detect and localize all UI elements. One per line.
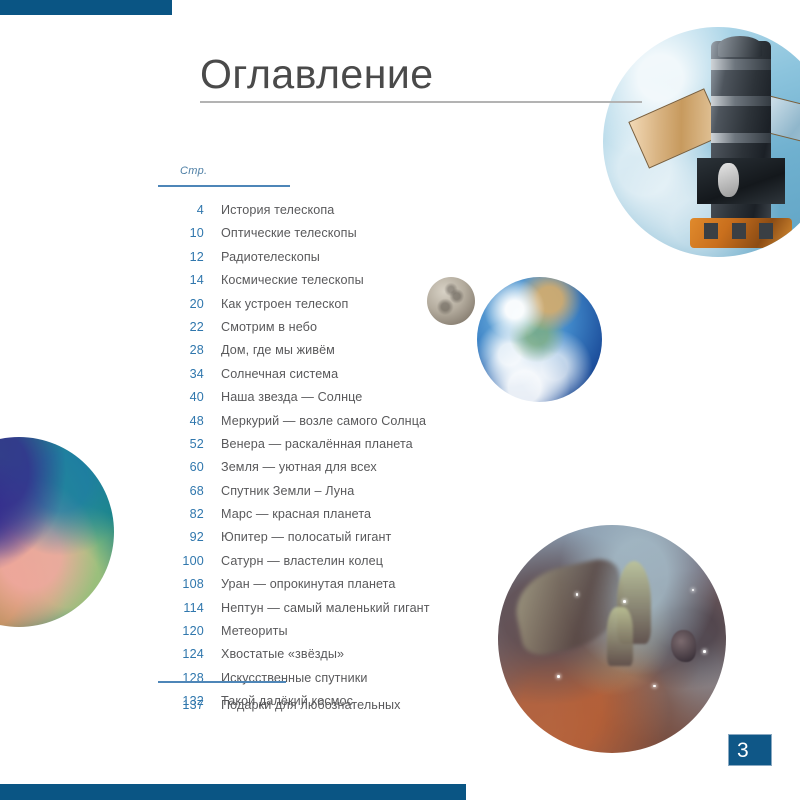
telescope-ring (711, 96, 771, 106)
toc-entry[interactable]: 14 Космические телескопы (158, 273, 488, 296)
title-underline-rule (200, 101, 642, 103)
book-contents-page: Оглавление Стр. 4 История телескопа 10 О… (0, 0, 800, 800)
toc-entry-page-number: 22 (158, 320, 204, 334)
toc-entry-page-number: 92 (158, 530, 204, 544)
star-point (557, 675, 560, 678)
toc-entry[interactable]: 82 Марс — красная планета (158, 507, 488, 530)
toc-entry-label: Метеориты (204, 624, 288, 638)
page-title: Оглавление (200, 52, 434, 97)
toc-entry-page-number: 14 (158, 273, 204, 287)
toc-entry-label: Космические телескопы (204, 273, 364, 287)
bottom-left-accent-bar (0, 784, 466, 800)
toc-entry-page-number: 60 (158, 460, 204, 474)
astronaut-figure (718, 163, 739, 198)
toc-entry-label: Смотрим в небо (204, 320, 317, 334)
toc-entry[interactable]: 114 Нептун — самый маленький гигант (158, 601, 488, 624)
telescope-ring (711, 59, 771, 69)
toc-entry-label: Наша звезда — Солнце (204, 390, 362, 404)
toc-entry-page-number: 10 (158, 226, 204, 240)
toc-entry-label: Марс — красная планета (204, 507, 371, 521)
toc-entry-label: Оптические телескопы (204, 226, 357, 240)
toc-entry[interactable]: 28 Дом, где мы живём (158, 343, 488, 366)
toc-entry[interactable]: 68 Спутник Земли – Луна (158, 484, 488, 507)
venus-radar-map-photo (0, 437, 114, 627)
toc-entry-page-number: 52 (158, 437, 204, 451)
toc-entry-label: Нептун — самый маленький гигант (204, 601, 430, 615)
telescope-instrument-bay (697, 158, 784, 204)
toc-entry[interactable]: 20 Как устроен телескоп (158, 297, 488, 320)
toc-entry[interactable]: 12 Радиотелескопы (158, 250, 488, 273)
toc-entry-page-number: 82 (158, 507, 204, 521)
toc-entry-page-number: 20 (158, 297, 204, 311)
toc-entry[interactable]: 120 Метеориты (158, 624, 488, 647)
nebula-dark-globule (671, 630, 696, 662)
toc-entry[interactable]: 124 Хвостатые «звёзды» (158, 647, 488, 670)
toc-entry[interactable]: 108 Уран — опрокинутая планета (158, 577, 488, 600)
hubble-space-telescope-photo (603, 27, 800, 257)
star-point (692, 589, 695, 592)
toc-entry-page-number: 48 (158, 414, 204, 428)
star-point (653, 685, 656, 688)
toc-entry[interactable]: 52 Венера — раскалённая планета (158, 437, 488, 460)
toc-entry-page-number: 4 (158, 203, 204, 217)
toc-entry-page-number: 100 (158, 554, 204, 568)
toc-entry-label: Меркурий — возле самого Солнца (204, 414, 426, 428)
toc-entry-page-number: 108 (158, 577, 204, 591)
telescope-aperture-cap (718, 36, 762, 57)
toc-entry-label: Юпитер — полосатый гигант (204, 530, 391, 544)
toc-entry-label: История телескопа (204, 203, 334, 217)
toc-entry[interactable]: 100 Сатурн — властелин колец (158, 554, 488, 577)
toc-entry[interactable]: 4 История телескопа (158, 203, 488, 226)
toc-entry-label: Дом, где мы живём (204, 343, 335, 357)
toc-entry-label: Хвостатые «звёзды» (204, 647, 344, 661)
page-column-header: Стр. (180, 165, 207, 177)
toc-entry-label: Радиотелескопы (204, 250, 320, 264)
nebula-photo (498, 525, 726, 753)
toc-entry-label: Сатурн — властелин колец (204, 554, 383, 568)
toc-entry-label: Как устроен телескоп (204, 297, 348, 311)
star-point (703, 650, 706, 653)
toc-entry[interactable]: 22 Смотрим в небо (158, 320, 488, 343)
telescope-base-slot (759, 223, 773, 239)
toc-entry-label: Земля — уютная для всех (204, 460, 377, 474)
toc-entry-page-number: 12 (158, 250, 204, 264)
toc-entry[interactable]: 34 Солнечная система (158, 367, 488, 390)
toc-entry[interactable]: 10 Оптические телескопы (158, 226, 488, 249)
toc-section-divider (158, 681, 286, 683)
star-point (576, 593, 579, 596)
toc-entry-page-number: 40 (158, 390, 204, 404)
toc-entry-label: Спутник Земли – Луна (204, 484, 354, 498)
toc-entry[interactable]: 60 Земля — уютная для всех (158, 460, 488, 483)
page-column-header-rule (158, 185, 290, 187)
top-left-accent-bar (0, 0, 172, 15)
toc-entry-label: Солнечная система (204, 367, 338, 381)
toc-entry-page-number: 120 (158, 624, 204, 638)
earth-photo (477, 277, 602, 402)
toc-entry-page-number: 68 (158, 484, 204, 498)
telescope-ring (711, 133, 771, 143)
telescope-base-slot (732, 223, 746, 239)
toc-entry[interactable]: 40 Наша звезда — Солнце (158, 390, 488, 413)
table-of-contents-list: 4 История телескопа 10 Оптические телеск… (158, 203, 488, 718)
star-point (623, 600, 626, 603)
table-of-contents-appendix: 137 Подарки для любознательных (158, 698, 488, 721)
toc-entry[interactable]: 48 Меркурий — возле самого Солнца (158, 414, 488, 437)
telescope-base-slot (704, 223, 718, 239)
toc-entry-label: Уран — опрокинутая планета (204, 577, 396, 591)
toc-entry-page-number: 114 (158, 601, 204, 615)
toc-entry-label: Венера — раскалённая планета (204, 437, 413, 451)
page-number-badge: 3 (728, 734, 772, 766)
toc-entry-page-number: 124 (158, 647, 204, 661)
toc-entry-page-number: 34 (158, 367, 204, 381)
toc-entry-page-number: 137 (158, 698, 204, 712)
toc-entry[interactable]: 92 Юпитер — полосатый гигант (158, 530, 488, 553)
toc-entry[interactable]: 137 Подарки для любознательных (158, 698, 488, 721)
nebula-pillar (607, 607, 632, 666)
toc-entry-label: Подарки для любознательных (204, 698, 401, 712)
toc-entry-page-number: 28 (158, 343, 204, 357)
